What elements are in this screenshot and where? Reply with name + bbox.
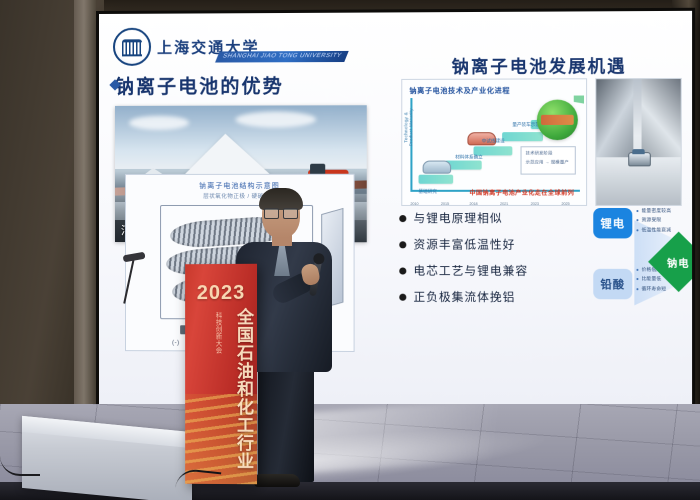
chip-lithium: 锂电 [593,208,632,238]
chart-annotation: 量产装车示范 [512,122,540,128]
chart-annotation: 材料体系确立 [455,154,483,160]
cell-label-negative: (-) [172,340,180,346]
chip-lead-acid: 铅酸 [593,269,632,300]
podium-main-text: 全国石油和化工行业 [225,308,251,470]
slide-title-right: 钠离子电池发展机遇 [401,52,677,78]
chip-sodium-label: 钠电 [667,254,690,269]
podium-year: 2023 [197,282,245,305]
bullet-dot-icon [399,215,406,222]
series-step [502,132,543,141]
glasses-icon [264,208,298,217]
list-item: 电芯工艺与锂电兼容 [399,262,589,278]
legend-entry: 技术研发阶段 [526,150,575,156]
x-tick: 2010 [410,202,418,206]
legend-entry: 示范应用 → 规模量产 [526,159,575,165]
bullet-dot-icon [399,293,406,300]
list-item: 与锂电原理相似 [399,210,589,226]
x-tick: 2018 [469,202,477,206]
point: 资源受限 [636,218,685,224]
flag-icon [574,96,584,104]
chart-title: 钠离子电池技术及产业化进程 [409,86,510,96]
cloud [129,116,189,130]
vehicle-marker [423,161,452,174]
speaker-hair [259,188,303,210]
university-ribbon: SHANGHAI JIAO TONG UNIVERSITY [215,51,349,63]
chart-y-axis-label: Technology & Product Maturity [403,105,413,149]
list-item: 正负极集流体挽铝 [399,289,589,306]
x-tick: 2023 [531,202,539,206]
bullet-dot-icon [399,267,406,274]
conference-photo-scene: 上海交通大学 SHANGHAI JIAO TONG UNIVERSITY 钠离子… [0,0,700,500]
industrialization-roadmap-chart: 钠离子电池技术及产业化进程 Technology & Product Matur… [401,78,587,206]
advantages-bullet-list: 与锂电原理相似 资源丰富低温性好 电芯工艺与锂电兼容 正负极集流体挽铝 [399,210,589,315]
sjtu-seal-icon [113,28,151,66]
point: 能量密度较高 [636,208,685,214]
list-item: 资源丰富低温性好 [399,236,589,252]
chart-annotation: 基础研究 [419,189,437,195]
bullet-label: 电芯工艺与锂电兼容 [413,262,528,278]
podium-banner: 2023 全国石油和化工行业 科技创新大会 [185,264,257,484]
battery-comparison-block: 锂电 能量密度较高 资源受限 低温性能衰减 铅酸 价格低成本低 比能量低 循环寿… [593,206,688,320]
bullet-label: 与锂电原理相似 [413,210,502,226]
left-wall-panel [0,0,104,420]
chart-legend: 技术研发阶段 示范应用 → 规模量产 [521,146,576,174]
x-tick: 2015 [441,202,449,206]
x-tick: 2025 [561,202,569,206]
speaker-legs [258,366,314,482]
chart-highlight-note: 中国钠离子电池产业化走在全球前列 [469,188,574,197]
cloud [235,111,316,127]
bullet-label: 资源丰富低温性好 [413,236,515,252]
snow-road-photo [595,78,681,206]
series-step [419,175,454,184]
podium-sub-text: 科技创新大会 [209,312,221,354]
globe-icon [537,100,578,141]
speaker-shoes [254,474,300,487]
chart-annotation: 中试线建设 [482,138,505,144]
x-tick: 2021 [500,202,508,206]
bullet-dot-icon [399,241,406,248]
slide-title-left: 钠离子电池的优势 [115,71,284,99]
bullet-label: 正负极集流体挽铝 [413,289,515,305]
car-icon [628,152,651,166]
